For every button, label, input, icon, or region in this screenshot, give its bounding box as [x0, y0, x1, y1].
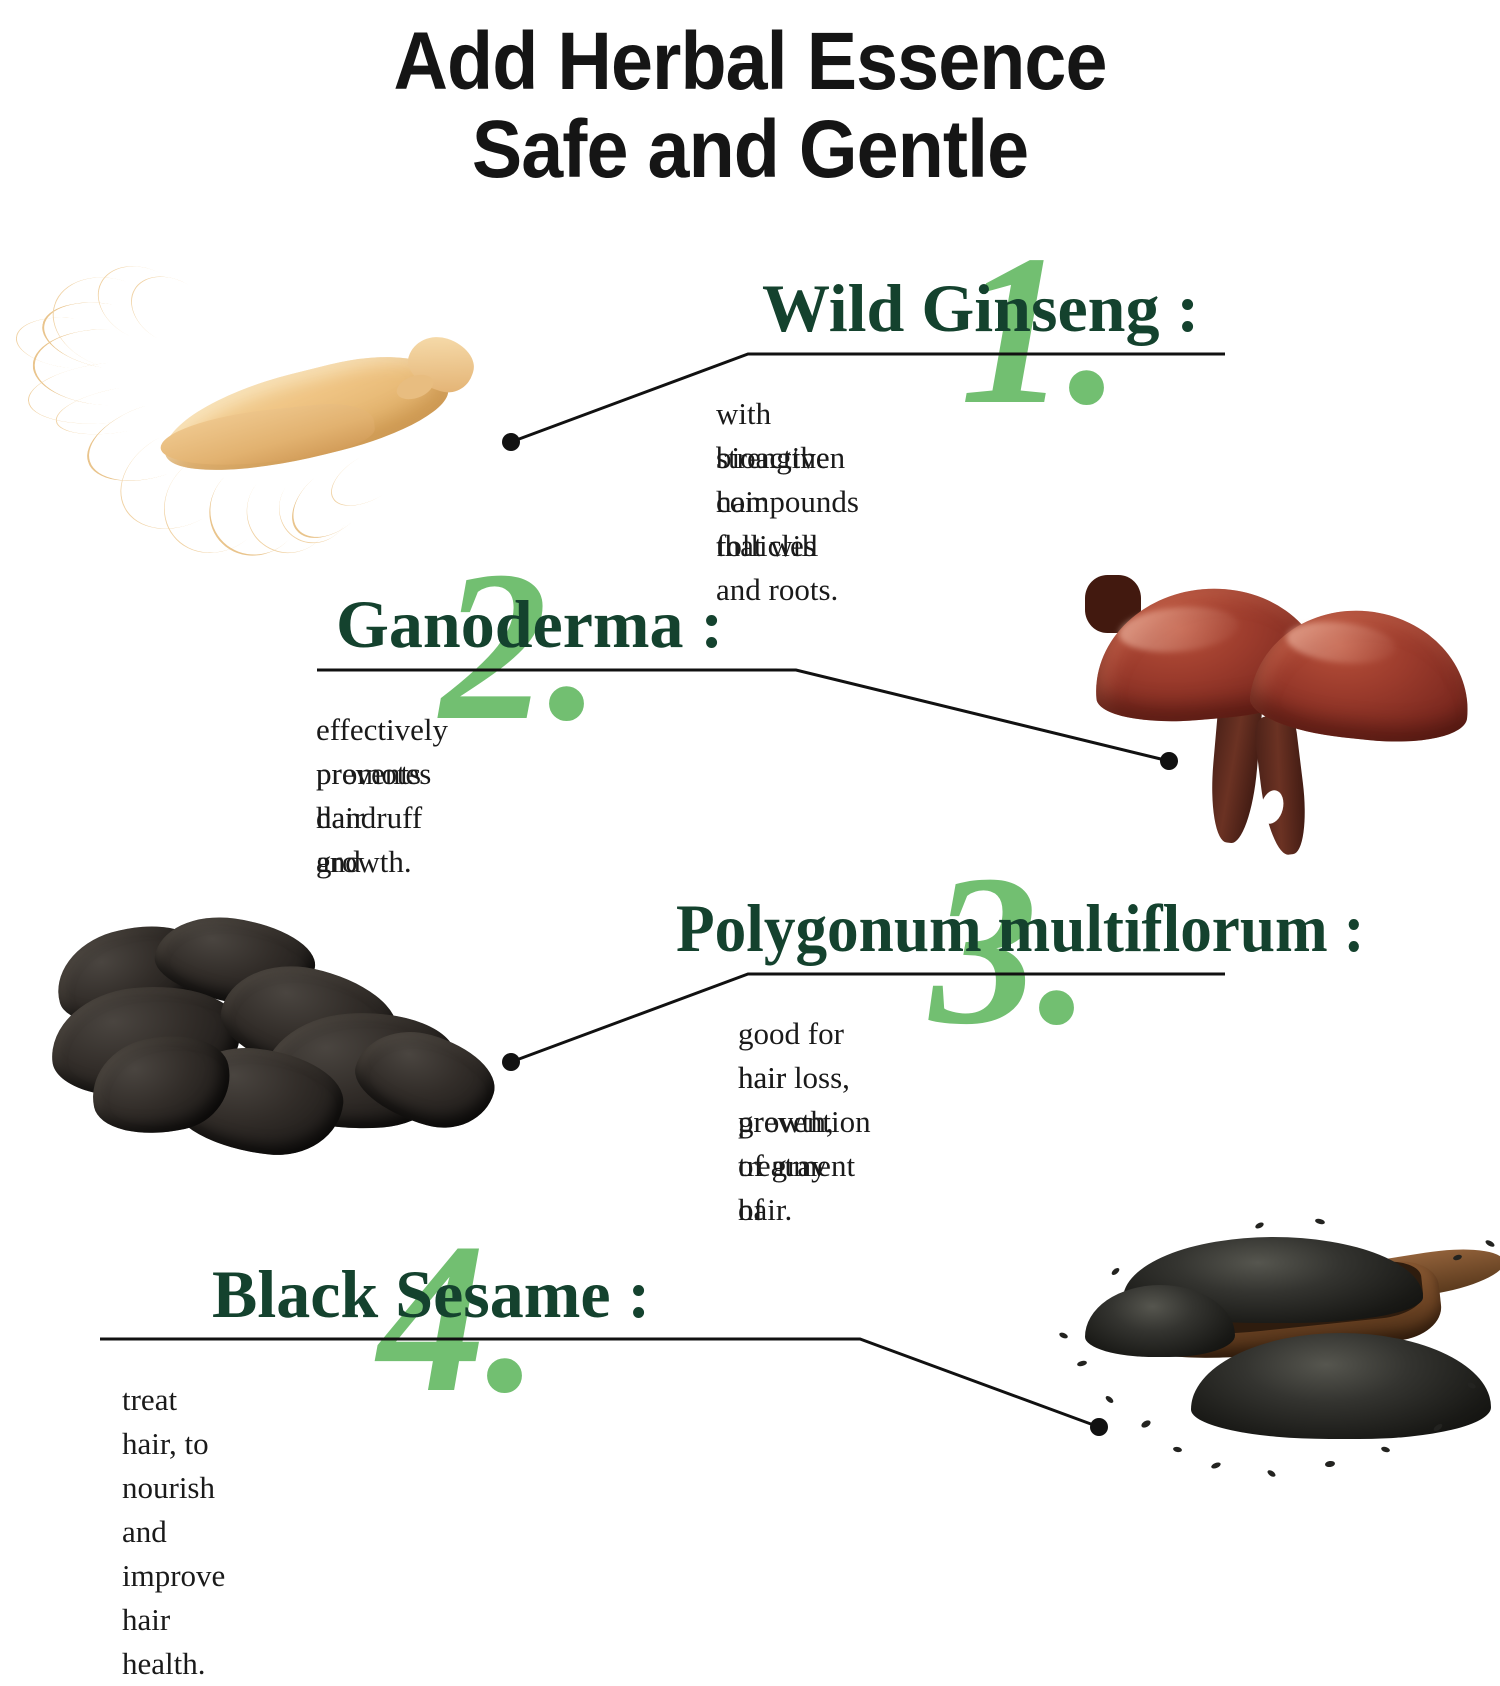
- section-body-4-line-1: treat hair, to nourish and improve hair …: [122, 1378, 225, 1686]
- section-heading-4: Black Sesame :: [212, 1258, 650, 1330]
- connector-4: [100, 1339, 1108, 1436]
- section-heading-1: Wild Ginseng :: [762, 272, 1199, 344]
- section-body-1-line-2: strengthen hair follicles and roots.: [716, 436, 845, 612]
- section-heading-2: Ganoderma :: [336, 588, 723, 660]
- connector-dot-3: [502, 1053, 520, 1071]
- connector-dot-2: [1160, 752, 1178, 770]
- infographic-canvas: Add Herbal Essence Safe and Gentle: [0, 0, 1500, 1500]
- section-heading-3: Polygonum multiflorum :: [676, 892, 1365, 964]
- connector-dot-1: [502, 433, 520, 451]
- section-body-2-line-2: promotes hair growth.: [316, 752, 431, 884]
- connector-1: [502, 354, 1225, 451]
- connector-dot-4: [1090, 1418, 1108, 1436]
- section-body-3-line-2: hair loss, prevention of gray hair.: [738, 1056, 871, 1232]
